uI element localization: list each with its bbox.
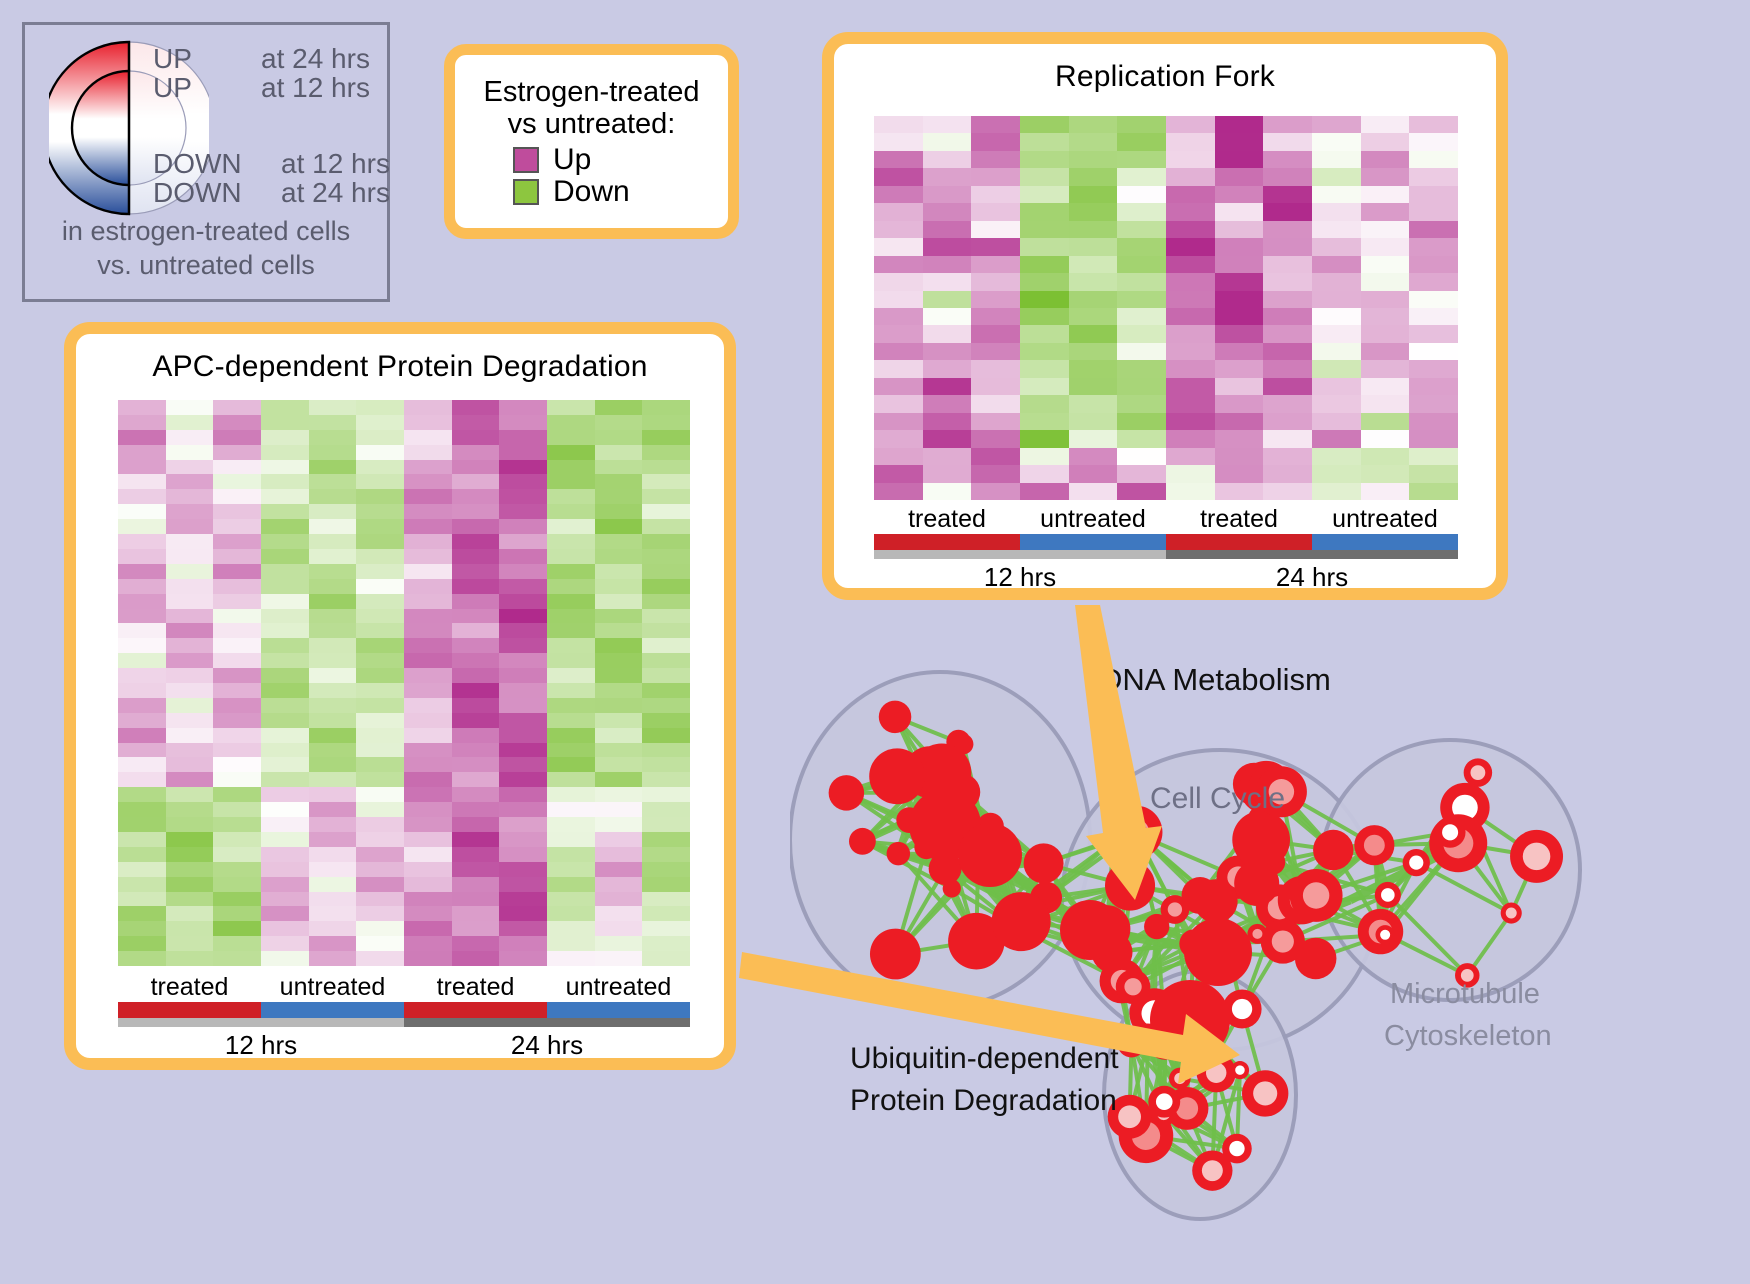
network-node (992, 892, 1051, 951)
heatmap-cell (404, 415, 452, 430)
heatmap-cell (356, 534, 404, 549)
heatmap-cell (261, 579, 309, 594)
heatmap-cell (261, 549, 309, 564)
heatmap-cell (1409, 343, 1458, 360)
heatmap-cell (1215, 343, 1264, 360)
heatmap-cell (118, 504, 166, 519)
heatmap-cell (923, 203, 972, 220)
network-node (1184, 918, 1252, 986)
heatmap-cell (452, 713, 500, 728)
heatmap-cell (356, 460, 404, 475)
heatmap-cell (499, 534, 547, 549)
heatmap-cell (595, 862, 643, 877)
heatmap-cell (595, 847, 643, 862)
heatmap-cell (1409, 273, 1458, 290)
heatmap-cell (595, 921, 643, 936)
legend-title-line2: vs untreated: (459, 108, 724, 140)
heatmap-cell (1312, 291, 1361, 308)
network-label-4: Ubiquitin-dependent (850, 1042, 1119, 1076)
heatmap-cell (547, 936, 595, 951)
network-node (958, 823, 1022, 887)
heatmap-cell (213, 594, 261, 609)
heatmap-cell (309, 892, 357, 907)
heatmap-cell (874, 325, 923, 342)
heatmap-cell (404, 594, 452, 609)
heatmap-cell (452, 594, 500, 609)
heatmap-cell (118, 430, 166, 445)
heatmap-cell (642, 906, 690, 921)
heatmap-cell (1409, 168, 1458, 185)
heatmap-cell (923, 465, 972, 482)
heatmap-cell (1020, 413, 1069, 430)
heatmap-cell (923, 325, 972, 342)
heatmap-cell (1409, 413, 1458, 430)
heatmap-cell (309, 847, 357, 862)
heatmap-cell (1020, 168, 1069, 185)
heatmap-cell (1117, 133, 1166, 150)
heatmap-cell (547, 519, 595, 534)
heatmap-cell (261, 668, 309, 683)
heatmap-cell (118, 594, 166, 609)
heatmap-cell (309, 862, 357, 877)
heatmap-cell (118, 832, 166, 847)
heatmap-cell (356, 445, 404, 460)
heatmap-cell (213, 460, 261, 475)
time-label-0: 12 hrs (118, 1030, 404, 1061)
heatmap-cell (1069, 465, 1118, 482)
heatmap-cell (595, 534, 643, 549)
heatmap-cell (166, 757, 214, 772)
heatmap-cell (309, 921, 357, 936)
heatmap-cell (1069, 343, 1118, 360)
heatmap-cell (261, 847, 309, 862)
heatmap-cell (547, 474, 595, 489)
heatmap-cell (1409, 133, 1458, 150)
heatmap-cell (1215, 360, 1264, 377)
heatmap-cell (923, 378, 972, 395)
heatmap-cell (452, 534, 500, 549)
heatmap-cell (452, 757, 500, 772)
heatmap-cell (261, 713, 309, 728)
heatmap-cell (1069, 483, 1118, 500)
heatmap-cell (118, 787, 166, 802)
heatmap-cell (971, 430, 1020, 447)
heatmap-cell (642, 817, 690, 832)
heatmap-cell (595, 460, 643, 475)
heatmap-cell (642, 757, 690, 772)
heatmap-cell (499, 832, 547, 847)
heatmap-cell (595, 430, 643, 445)
heatmap-cell (1020, 325, 1069, 342)
heatmap-cell (1069, 168, 1118, 185)
heatmap-cell (309, 579, 357, 594)
heatmap-cell (595, 906, 643, 921)
heatmap-cell (642, 519, 690, 534)
heatmap-cell (261, 936, 309, 951)
heatmap-cell (118, 802, 166, 817)
heatmap-cell (261, 430, 309, 445)
heatmap-cell (356, 430, 404, 445)
heatmap-cell (547, 921, 595, 936)
heatmap-cell (971, 343, 1020, 360)
heatmap-cell (1312, 168, 1361, 185)
key-row-down-24: DOWN at 24 hrs (153, 179, 393, 208)
heatmap-cell (1166, 256, 1215, 273)
heatmap-cell (261, 609, 309, 624)
heatmap-cell (404, 623, 452, 638)
heatmap-cell (1117, 360, 1166, 377)
heatmap-cell (595, 728, 643, 743)
heatmap-cell (213, 430, 261, 445)
heatmap-cell (642, 802, 690, 817)
heatmap-cell (309, 609, 357, 624)
heatmap-cell (874, 448, 923, 465)
heatmap-cell (1069, 273, 1118, 290)
heatmap-cell (261, 623, 309, 638)
heatmap-cell (1409, 221, 1458, 238)
time-bar-1 (1166, 550, 1458, 559)
group-labels-apc-degradation: treateduntreatedtreateduntreated (118, 974, 690, 1002)
heatmap-cell (595, 832, 643, 847)
heatmap-cell (118, 609, 166, 624)
heatmap-cell (118, 489, 166, 504)
heatmap-cell (1020, 221, 1069, 238)
heatmap-cell (261, 787, 309, 802)
heatmap-cell (213, 683, 261, 698)
heatmap-cell (1215, 168, 1264, 185)
heatmap-cell (499, 445, 547, 460)
heatmap-cell (1020, 186, 1069, 203)
heatmap-cell (404, 847, 452, 862)
heatmap-cell (166, 743, 214, 758)
heatmap-cell (309, 400, 357, 415)
heatmap-cell (309, 668, 357, 683)
heatmap-cell (1263, 360, 1312, 377)
heatmap-cell (1361, 378, 1410, 395)
heatmap-cell (166, 892, 214, 907)
group-label-3: untreated (1312, 506, 1458, 534)
heatmap-cell (1069, 186, 1118, 203)
group-color-bar-apc-degradation (118, 1002, 690, 1018)
heatmap-cell (213, 877, 261, 892)
heatmap-cell (213, 906, 261, 921)
heatmap-cell (874, 256, 923, 273)
heatmap-cell (261, 564, 309, 579)
heatmap-cell (166, 728, 214, 743)
group-label-2: treated (404, 974, 547, 1002)
heatmap-cell (547, 445, 595, 460)
heatmap-cell (261, 802, 309, 817)
heatmap-cell (1069, 133, 1118, 150)
heatmap-cell (1117, 151, 1166, 168)
heatmap-cell (547, 594, 595, 609)
heatmap-cell (404, 489, 452, 504)
heatmap-cell (166, 772, 214, 787)
heatmap-cell (118, 728, 166, 743)
heatmap-cell (642, 489, 690, 504)
heatmap-cell (1069, 238, 1118, 255)
heatmap-cell (547, 534, 595, 549)
heatmap-cell (1117, 203, 1166, 220)
heatmap-cell (1020, 203, 1069, 220)
heatmap-cell (1215, 465, 1264, 482)
heatmap-cell (118, 743, 166, 758)
heatmap-cell (213, 936, 261, 951)
heatmap-cell (1166, 151, 1215, 168)
heatmap-cell (452, 579, 500, 594)
heatmap-cell (499, 519, 547, 534)
heatmap-cell (1409, 378, 1458, 395)
heatmap-cell (1312, 186, 1361, 203)
heatmap-cell (1263, 221, 1312, 238)
heatmap-cell (166, 713, 214, 728)
heatmap-cell (1166, 360, 1215, 377)
heatmap-cell (547, 698, 595, 713)
updown-legend-box: Estrogen-treated vs untreated: Up Down (444, 44, 739, 239)
panel-title-apc-degradation: APC-dependent Protein Degradation (76, 350, 724, 384)
heatmap-cell (595, 609, 643, 624)
heatmap-cell (547, 564, 595, 579)
heatmap-cell (1215, 256, 1264, 273)
heatmap-cell (452, 698, 500, 713)
heatmap-cell (1020, 360, 1069, 377)
heatmap-cell (356, 564, 404, 579)
panel-apc-degradation: APC-dependent Protein Degradation treate… (64, 322, 736, 1070)
heatmap-cell (452, 862, 500, 877)
heatmap-cell (1020, 483, 1069, 500)
heatmap-cell (213, 668, 261, 683)
key-label-up-12: UP (153, 74, 261, 103)
heatmap-cell (118, 847, 166, 862)
heatmap-cell (452, 892, 500, 907)
heatmap-cell (166, 936, 214, 951)
heatmap-cell (166, 787, 214, 802)
key-time-down-24: at 24 hrs (281, 179, 390, 208)
heatmap-cell (166, 415, 214, 430)
heatmap-cell (1069, 151, 1118, 168)
network-label-5: Protein Degradation (850, 1084, 1117, 1118)
heatmap-cell (404, 787, 452, 802)
heatmap-cell (1117, 186, 1166, 203)
heatmap-cell (309, 504, 357, 519)
heatmap-cell (452, 609, 500, 624)
heatmap-cell (261, 906, 309, 921)
heatmap-cell (499, 400, 547, 415)
group-label-2: treated (1166, 506, 1312, 534)
heatmap-cell (356, 728, 404, 743)
key-row-down-12: DOWN at 12 hrs (153, 150, 393, 179)
heatmap-cell (166, 474, 214, 489)
heatmap-cell (1117, 273, 1166, 290)
heatmap-cell (1312, 483, 1361, 500)
heatmap-cell (642, 936, 690, 951)
heatmap-cell (499, 415, 547, 430)
pathway-network-diagram: DNA MetabolismCell CycleMicrotubuleCytos… (790, 600, 1750, 1279)
heatmap-cell (874, 221, 923, 238)
heatmap-cell (1020, 378, 1069, 395)
heatmap-cell (1117, 325, 1166, 342)
heatmap-cell (404, 936, 452, 951)
heatmap-cell (1361, 221, 1410, 238)
heatmap-cell (452, 564, 500, 579)
heatmap-cell (404, 534, 452, 549)
heatmap-cell (547, 638, 595, 653)
heatmap-cell (1409, 256, 1458, 273)
heatmap-cell (1215, 448, 1264, 465)
heatmap-cell (1020, 256, 1069, 273)
heatmap-cell (1361, 413, 1410, 430)
heatmap-cell (874, 308, 923, 325)
heatmap-cell (261, 757, 309, 772)
heatmap-cell (166, 802, 214, 817)
heatmap-cell (118, 564, 166, 579)
heatmap-cell (309, 817, 357, 832)
heatmap-cell (1312, 448, 1361, 465)
heatmap-cell (547, 862, 595, 877)
heatmap-cell (261, 877, 309, 892)
heatmap-cell (452, 519, 500, 534)
heatmap-cell (166, 594, 214, 609)
heatmap-cell (1069, 256, 1118, 273)
heatmap-cell (595, 787, 643, 802)
heatmap-cell (1020, 308, 1069, 325)
heatmap-cell (595, 415, 643, 430)
heatmap-cell (309, 713, 357, 728)
heatmap-cell (309, 594, 357, 609)
heatmap-cell (261, 460, 309, 475)
heatmap-cell (356, 504, 404, 519)
heatmap-cell (971, 325, 1020, 342)
heatmap-cell (1069, 430, 1118, 447)
heatmap-cell (452, 772, 500, 787)
heatmap-cell (1117, 221, 1166, 238)
key-label-down-24: DOWN (153, 179, 281, 208)
heatmap-cell (213, 772, 261, 787)
heatmap-cell (166, 698, 214, 713)
heatmap-cell (213, 757, 261, 772)
heatmap-cell (261, 415, 309, 430)
key-caption-line2: vs. untreated cells (25, 249, 387, 283)
heatmap-cell (166, 400, 214, 415)
group-bar-3 (1312, 534, 1458, 550)
heatmap-cell (309, 832, 357, 847)
heatmap-cell (1069, 116, 1118, 133)
heatmap-cell (1361, 430, 1410, 447)
heatmap-cell (213, 400, 261, 415)
heatmap-cell (1166, 430, 1215, 447)
heatmap-cell (971, 238, 1020, 255)
heatmap-cell (595, 817, 643, 832)
heatmap-cell (166, 519, 214, 534)
heatmap-cell (642, 728, 690, 743)
heatmap-cell (595, 951, 643, 966)
heatmap-cell (595, 698, 643, 713)
heatmap-cell (547, 460, 595, 475)
legend-label-down: Down (553, 176, 630, 208)
heatmap-cell (261, 474, 309, 489)
heatmap-cell (166, 534, 214, 549)
heatmap-cell (595, 564, 643, 579)
heatmap-cell (1166, 291, 1215, 308)
heatmap-cell (1312, 430, 1361, 447)
network-node (1060, 900, 1120, 960)
heatmap-cell (1361, 448, 1410, 465)
heatmap-cell (404, 951, 452, 966)
heatmap-cell (595, 877, 643, 892)
heatmap-cell (118, 772, 166, 787)
heatmap-cell (1312, 343, 1361, 360)
heatmap-cell (1166, 168, 1215, 185)
heatmap-cell (547, 549, 595, 564)
key-label-up-24: UP (153, 45, 261, 74)
heatmap-cell (404, 400, 452, 415)
heatmap-cell (356, 921, 404, 936)
heatmap-cell (356, 638, 404, 653)
heatmap-cell (547, 668, 595, 683)
heatmap-cell (971, 465, 1020, 482)
heatmap-cell (1263, 465, 1312, 482)
heatmap-cell (213, 609, 261, 624)
heatmap-cell (923, 395, 972, 412)
heatmap-cell (1312, 133, 1361, 150)
group-bar-0 (118, 1002, 261, 1018)
heatmap-cell (404, 698, 452, 713)
heatmap-cell (213, 579, 261, 594)
heatmap-cell (1263, 483, 1312, 500)
heatmap-cell (874, 465, 923, 482)
heatmap-cell (1117, 168, 1166, 185)
heatmap-cell (971, 133, 1020, 150)
heatmap-cell (404, 802, 452, 817)
heatmap-cell (309, 936, 357, 951)
heatmap-cell (499, 906, 547, 921)
heatmap-cell (118, 683, 166, 698)
heatmap-cell (404, 668, 452, 683)
network-node (1102, 829, 1126, 853)
heatmap-cell (1117, 343, 1166, 360)
heatmap-cell (404, 713, 452, 728)
heatmap-cell (547, 400, 595, 415)
heatmap-cell (595, 936, 643, 951)
heatmap-cell (1215, 116, 1264, 133)
heatmap-cell (1263, 151, 1312, 168)
heatmap-cell (971, 168, 1020, 185)
heatmap-cell (923, 343, 972, 360)
heatmap-cell (547, 623, 595, 638)
heatmap-cell (1361, 483, 1410, 500)
heatmap-cell (213, 802, 261, 817)
heatmap-cell (595, 892, 643, 907)
heatmap-cell (499, 892, 547, 907)
heatmap-cell (452, 549, 500, 564)
heatmap-cell (1215, 483, 1264, 500)
heatmap-cell (595, 400, 643, 415)
heatmap-cell (118, 623, 166, 638)
group-labels-replication-fork: treateduntreatedtreateduntreated (874, 506, 1458, 534)
heatmap-cell (499, 951, 547, 966)
heatmap-cell (923, 360, 972, 377)
heatmap-cell (1409, 291, 1458, 308)
heatmap-cell (118, 653, 166, 668)
heatmap-cell (261, 921, 309, 936)
heatmap-cell (1020, 465, 1069, 482)
heatmap-cell (261, 638, 309, 653)
heatmap-cell (642, 579, 690, 594)
heatmap-cell (547, 757, 595, 772)
heatmap-cell (499, 668, 547, 683)
key-time-up-24: at 24 hrs (261, 45, 370, 74)
heatmap-cell (1166, 203, 1215, 220)
